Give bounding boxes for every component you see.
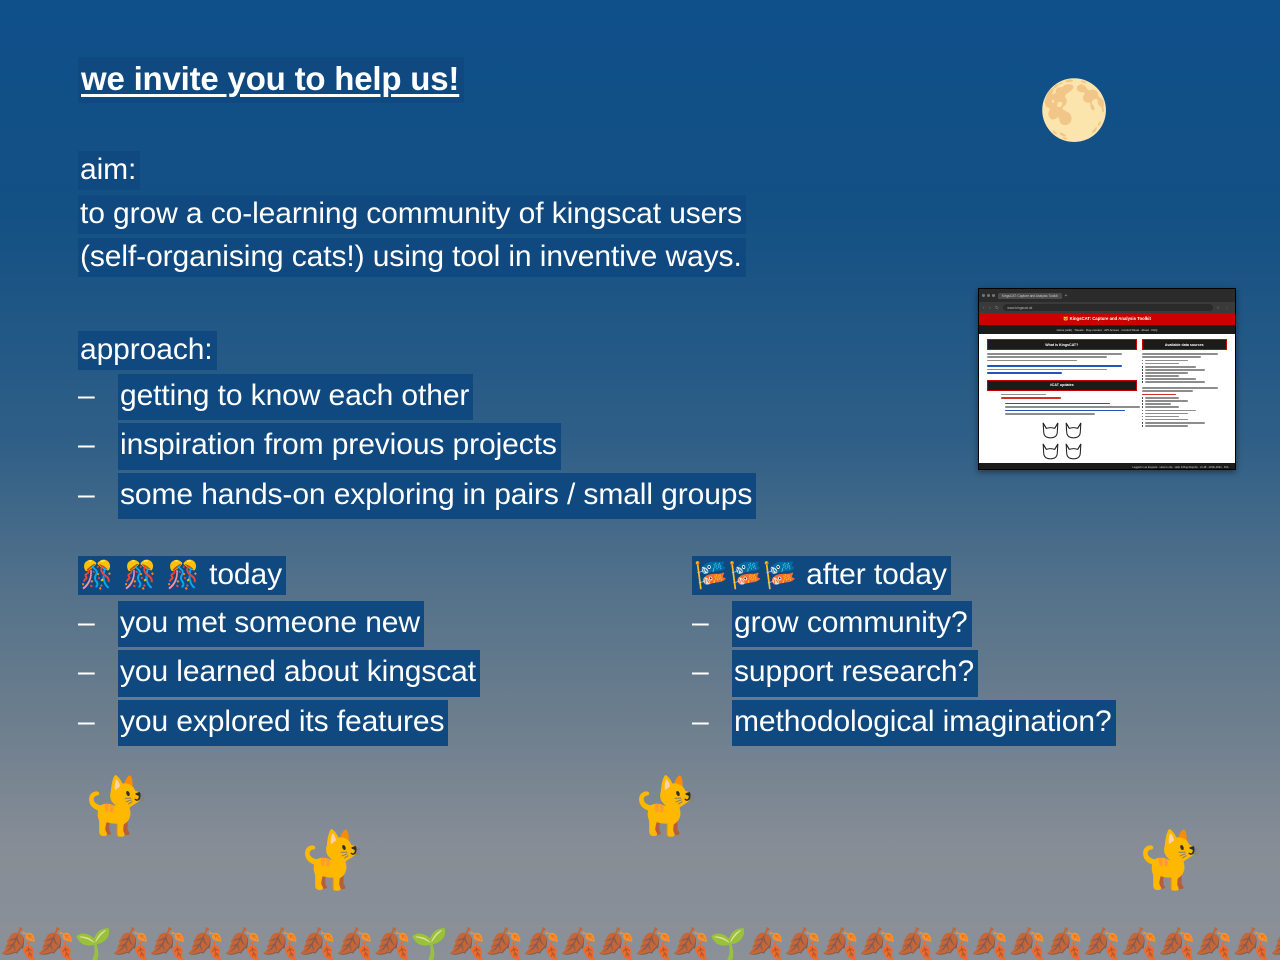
bullet-dash: – (78, 379, 118, 413)
bullet-dash: – (78, 428, 118, 462)
bullet-dash: – (78, 606, 118, 640)
site-nav[interactable]: Home (wiki) · Tweets · Day-counter · API… (979, 325, 1235, 334)
column-today: 🎊 🎊 🎊 today – you met someone new – you … (78, 555, 480, 749)
cat-icon: 🐈 (1136, 832, 1206, 888)
confetti-ball-icon: 🎊 🎊 🎊 (80, 560, 201, 590)
list-item: – getting to know each other (78, 374, 756, 421)
bullet-dash: – (692, 655, 732, 689)
approach-bullet-1: getting to know each other (118, 374, 473, 421)
column-today-heading: 🎊 🎊 🎊 today (78, 555, 480, 596)
list-item: – inspiration from previous projects (78, 423, 756, 470)
approach-bullet-3: some hands-on exploring in pairs / small… (118, 473, 756, 520)
column-today-label: today (209, 558, 282, 591)
new-tab-icon[interactable]: + (1065, 293, 1068, 299)
cat-icon: 🐈 (632, 778, 702, 834)
card-what-is-kingscat: What is KingsCAT? (987, 339, 1137, 350)
browser-tab[interactable]: KingsCAT: Capture and Analysis Toolkit (998, 293, 1062, 299)
after-today-bullet-2: support research? (732, 650, 978, 697)
list-item: – some hands-on exploring in pairs / sma… (78, 473, 756, 520)
aim-heading: aim: (78, 151, 140, 190)
page-footer: Logged in as kingscat · How to cite · He… (979, 463, 1235, 470)
list-item: – support research? (692, 650, 1116, 697)
back-icon[interactable]: ‹ (983, 305, 986, 310)
today-bullet-2: you learned about kingscat (118, 650, 480, 697)
kingscat-page: 🐱 KingsCAT: Capture and Analysis Toolkit… (979, 313, 1235, 470)
cat-outline-figure (1040, 421, 1084, 461)
page-title-text: we invite you to help us! (78, 57, 464, 103)
approach-heading: approach: (78, 331, 217, 370)
bullet-dash: – (78, 478, 118, 512)
window-controls-icon (982, 294, 995, 297)
column-after-today-heading: 🎏🎏🎏 after today (692, 555, 1116, 596)
cat-face-icon (1063, 442, 1084, 461)
column-after-today: 🎏🎏🎏 after today – grow community? – supp… (692, 555, 1116, 749)
carp-streamer-icon: 🎏🎏🎏 (694, 560, 798, 590)
forward-icon[interactable]: › (989, 305, 992, 310)
after-today-bullet-1: grow community? (732, 601, 972, 648)
aim-block: aim: to grow a co-learning community of … (78, 150, 746, 281)
card-available-data-sources: Available data sources (1142, 339, 1227, 350)
approach-bullet-2: inspiration from previous projects (118, 423, 561, 470)
data-source-list (1142, 360, 1227, 383)
list-item: – you met someone new (78, 601, 480, 648)
bullet-dash: – (78, 655, 118, 689)
card-cat-updates: #CAT updates (987, 380, 1137, 391)
cat-face-icon (1040, 421, 1061, 440)
slide-canvas: we invite you to help us! aim: to grow a… (0, 0, 1280, 960)
cat-face-icon (1063, 421, 1084, 440)
leaf-row: 🍂🍂🌱🍂🍂🍂🍂🍂🍂🍂🍂🌱🍂🍂🍂🍂🍂🍂🍂🌱🍂🍂🍂🍂🍂🍂🍂🍂🍂🍂🍂🍂🍂🍂🍂🍂🍂🍂🍂🍂… (0, 930, 1280, 960)
address-bar[interactable]: www.kingscat.uk (1003, 304, 1213, 311)
column-after-today-label: after today (806, 558, 947, 591)
cat-icon: 🐈 (298, 832, 368, 888)
today-bullet-3: you explored its features (118, 700, 448, 747)
list-item: – methodological imagination? (692, 700, 1116, 747)
kingscat-screenshot-thumbnail: KingsCAT: Capture and Analysis Toolkit +… (978, 288, 1236, 470)
ground-leaf-strip: 🍂🍂🌱🍂🍂🍂🍂🍂🍂🍂🍂🌱🍂🍂🍂🍂🍂🍂🍂🌱🍂🍂🍂🍂🍂🍂🍂🍂🍂🍂🍂🍂🍂🍂🍂🍂🍂🍂🍂🍂… (0, 912, 1280, 960)
page-main-column: What is KingsCAT? #CAT updates (987, 339, 1137, 470)
card-body-text (987, 353, 1137, 374)
page-title: we invite you to help us! (78, 57, 464, 102)
browser-urlbar: ‹ › ↻ www.kingscat.uk ☆ ⋮ (979, 302, 1235, 313)
aim-line-1: to grow a co-learning community of kings… (78, 195, 746, 234)
bullet-dash: – (692, 705, 732, 739)
full-moon-icon: 🌕 (1038, 82, 1110, 140)
today-bullet-1: you met someone new (118, 601, 424, 648)
reload-icon[interactable]: ↻ (995, 305, 1000, 311)
bullet-dash: – (78, 705, 118, 739)
browser-menu-icon[interactable]: ☆ ⋮ (1216, 305, 1231, 310)
site-banner: 🐱 KingsCAT: Capture and Analysis Toolkit (979, 313, 1235, 325)
list-item: – grow community? (692, 601, 1116, 648)
page-side-column: Available data sources (1142, 339, 1227, 470)
list-item: – you explored its features (78, 700, 480, 747)
cat-face-icon (1040, 442, 1061, 461)
bullet-dash: – (692, 606, 732, 640)
approach-block: approach: – getting to know each other –… (78, 330, 756, 522)
data-source-list-2 (1142, 397, 1227, 426)
after-today-bullet-3: methodological imagination? (732, 700, 1116, 747)
browser-tabstrip: KingsCAT: Capture and Analysis Toolkit + (979, 289, 1235, 302)
list-item: – you learned about kingscat (78, 650, 480, 697)
cat-icon: 🐈 (82, 778, 152, 834)
card-updates-body (987, 394, 1137, 470)
aim-line-2: (self-organising cats!) using tool in in… (78, 238, 746, 277)
